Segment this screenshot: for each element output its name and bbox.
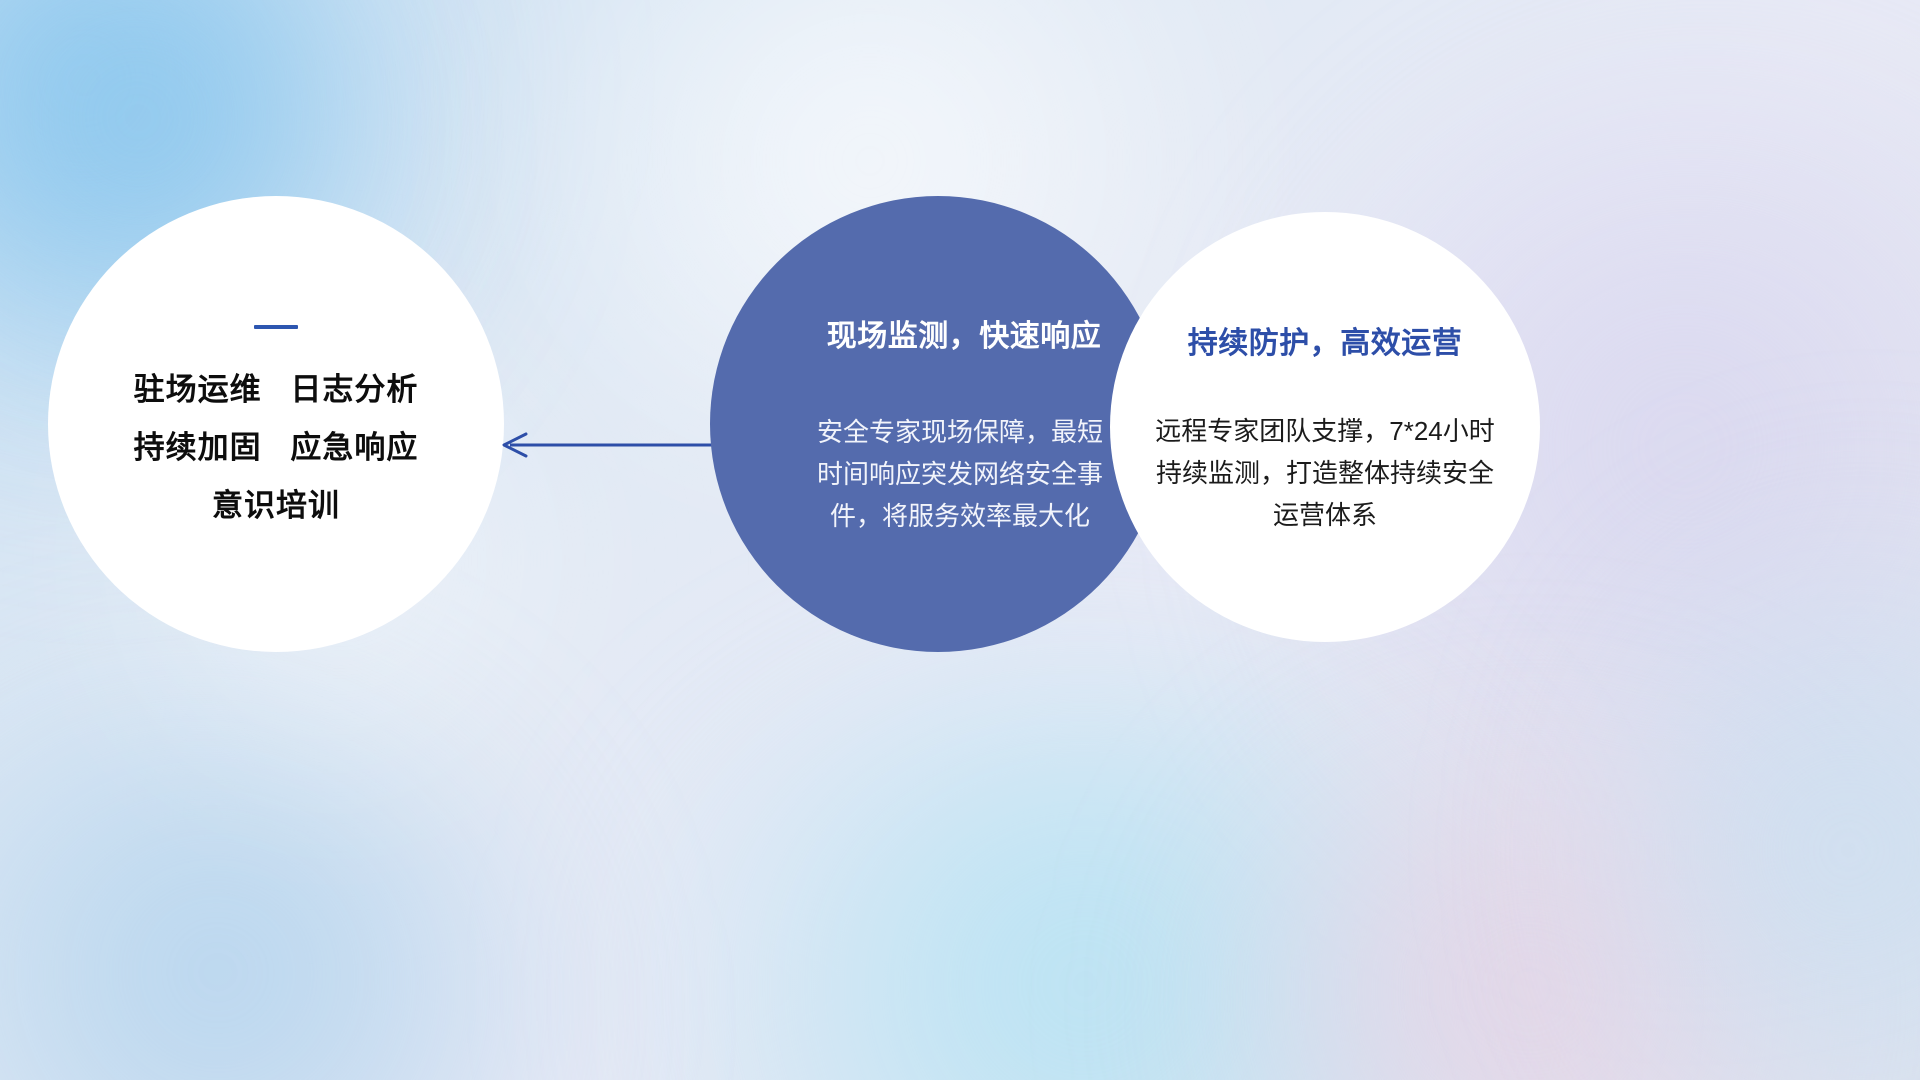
onsite-monitoring-body: 安全专家现场保障，最短时间响应突发网络安全事件，将服务效率最大化: [810, 411, 1110, 537]
list-item: 持续加固 应急响应: [134, 431, 419, 465]
circle-capabilities[interactable]: 驻场运维 日志分析 持续加固 应急响应 意识培训: [48, 196, 504, 652]
continuous-protection-body: 远程专家团队支撑，7*24小时持续监测，打造整体持续安全运营体系: [1151, 410, 1499, 536]
divider-dash-icon: [254, 325, 298, 329]
slide-canvas: 驻场运维 日志分析 持续加固 应急响应 意识培训 现场监测，快速响应 安全专家现…: [0, 0, 1920, 1080]
list-item: 意识培训: [212, 489, 340, 523]
continuous-protection-heading: 持续防护，高效运营: [1188, 318, 1463, 362]
circle-onsite-monitoring[interactable]: 现场监测，快速响应 安全专家现场保障，最短时间响应突发网络安全事件，将服务效率最…: [710, 196, 1166, 652]
onsite-monitoring-heading: 现场监测，快速响应: [827, 311, 1102, 355]
capabilities-list: 驻场运维 日志分析 持续加固 应急响应 意识培训: [134, 373, 419, 523]
circle-continuous-protection[interactable]: 持续防护，高效运营 远程专家团队支撑，7*24小时持续监测，打造整体持续安全运营…: [1110, 212, 1540, 642]
list-item: 驻场运维 日志分析: [134, 373, 419, 407]
